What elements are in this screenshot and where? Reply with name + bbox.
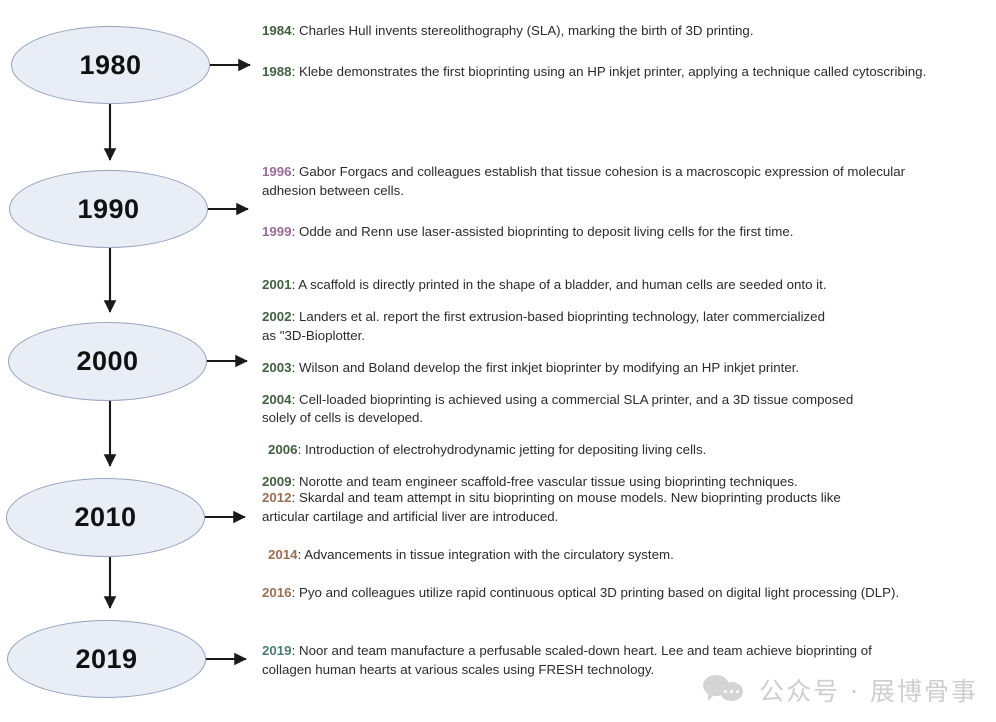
decade-node-2000[interactable]: 2000 — [8, 322, 207, 401]
event-year-2016: 2016 — [262, 585, 292, 600]
event-sep-2012: : — [292, 490, 299, 505]
event-text-2014: Advancements in tissue integration with … — [304, 547, 674, 562]
event-group-2010: 2012: Skardal and team attempt in situ b… — [262, 489, 962, 603]
event-sep-1999: : — [292, 224, 299, 239]
decade-label-1990: 1990 — [77, 196, 139, 223]
decade-node-2010[interactable]: 2010 — [6, 478, 205, 557]
timeline-diagram: 1980 1990 2000 2010 2019 1984: Charles H… — [0, 0, 996, 722]
event-text-2009: Norotte and team engineer scaffold-free … — [299, 474, 798, 489]
events-column: 1984: Charles Hull invents stereolithogr… — [262, 0, 984, 722]
event-text-2003: Wilson and Boland develop the first inkj… — [299, 360, 799, 375]
event-sep-2009: : — [292, 474, 299, 489]
event-item-1999: 1999: Odde and Renn use laser-assisted b… — [262, 223, 962, 242]
event-text-2001: A scaffold is directly printed in the sh… — [298, 277, 826, 292]
event-item-2002: 2002: Landers et al. report the first ex… — [262, 308, 842, 346]
event-item-2001: 2001: A scaffold is directly printed in … — [262, 276, 962, 295]
event-group-2000: 2001: A scaffold is directly printed in … — [262, 276, 962, 492]
event-text-1999: Odde and Renn use laser-assisted bioprin… — [299, 224, 793, 239]
event-item-1996: 1996: Gabor Forgacs and colleagues estab… — [262, 163, 962, 201]
event-item-2019: 2019: Noor and team manufacture a perfus… — [262, 642, 912, 680]
event-text-2019: Noor and team manufacture a perfusable s… — [262, 643, 872, 677]
event-item-2004: 2004: Cell-loaded bioprinting is achieve… — [262, 391, 882, 429]
event-year-1999: 1999 — [262, 224, 292, 239]
event-item-2014: 2014: Advancements in tissue integration… — [262, 546, 962, 565]
decade-node-1980[interactable]: 1980 — [11, 26, 210, 104]
event-item-2006: 2006: Introduction of electrohydrodynami… — [262, 441, 962, 460]
event-text-2004: Cell-loaded bioprinting is achieved usin… — [262, 392, 853, 426]
event-text-2006: Introduction of electrohydrodynamic jett… — [305, 442, 706, 457]
event-sep-2019: : — [292, 643, 299, 658]
event-year-2001: 2001 — [262, 277, 292, 292]
event-item-1984: 1984: Charles Hull invents stereolithogr… — [262, 22, 962, 41]
decade-label-2010: 2010 — [74, 504, 136, 531]
decade-node-1990[interactable]: 1990 — [9, 170, 208, 248]
event-text-2002: Landers et al. report the first extrusio… — [262, 309, 825, 343]
event-group-1990: 1996: Gabor Forgacs and colleagues estab… — [262, 163, 962, 242]
event-text-1984: Charles Hull invents stereolithography (… — [299, 23, 754, 38]
event-group-2019: 2019: Noor and team manufacture a perfus… — [262, 642, 962, 680]
event-sep-2003: : — [292, 360, 299, 375]
event-sep-2016: : — [292, 585, 299, 600]
event-sep-1984: : — [292, 23, 299, 38]
event-year-1988: 1988 — [262, 64, 292, 79]
event-text-2016: Pyo and colleagues utilize rapid continu… — [299, 585, 899, 600]
event-year-2004: 2004 — [262, 392, 292, 407]
decade-node-2019[interactable]: 2019 — [7, 620, 206, 698]
event-item-2012: 2012: Skardal and team attempt in situ b… — [262, 489, 862, 527]
event-sep-2006: : — [298, 442, 305, 457]
event-year-2006: 2006 — [268, 442, 298, 457]
event-item-2016: 2016: Pyo and colleagues utilize rapid c… — [262, 584, 902, 603]
event-item-2003: 2003: Wilson and Boland develop the firs… — [262, 359, 962, 378]
event-text-2012: Skardal and team attempt in situ bioprin… — [262, 490, 841, 524]
decade-label-2000: 2000 — [76, 348, 138, 375]
event-year-2002: 2002 — [262, 309, 292, 324]
event-year-2019: 2019 — [262, 643, 292, 658]
event-item-1988: 1988: Klebe demonstrates the first biopr… — [262, 63, 962, 82]
event-sep-1988: : — [292, 64, 299, 79]
event-text-1996: Gabor Forgacs and colleagues establish t… — [262, 164, 905, 198]
event-year-2009: 2009 — [262, 474, 292, 489]
event-sep-2002: : — [292, 309, 299, 324]
event-year-2003: 2003 — [262, 360, 292, 375]
event-year-1996: 1996 — [262, 164, 292, 179]
event-text-1988: Klebe demonstrates the first bioprinting… — [299, 64, 926, 79]
event-year-1984: 1984 — [262, 23, 292, 38]
decade-label-2019: 2019 — [75, 646, 137, 673]
event-sep-2004: : — [292, 392, 299, 407]
event-sep-1996: : — [292, 164, 299, 179]
event-group-1980: 1984: Charles Hull invents stereolithogr… — [262, 22, 962, 82]
event-year-2014: 2014 — [268, 547, 298, 562]
decade-node-column: 1980 1990 2000 2010 2019 — [0, 0, 255, 722]
event-year-2012: 2012 — [262, 490, 292, 505]
decade-label-1980: 1980 — [79, 52, 141, 79]
